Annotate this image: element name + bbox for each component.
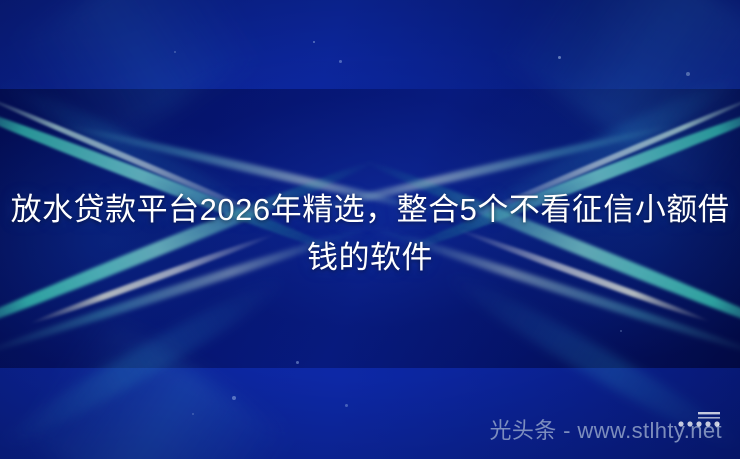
watermark-text: 光头条 - www.stlhty.net xyxy=(489,413,722,445)
background-band-top xyxy=(0,0,740,89)
promo-banner: 放水贷款平台2026年精选，整合5个不看征信小额借钱的软件 光头条 - www.… xyxy=(0,0,740,459)
page-title: 放水贷款平台2026年精选，整合5个不看征信小额借钱的软件 xyxy=(0,186,740,282)
